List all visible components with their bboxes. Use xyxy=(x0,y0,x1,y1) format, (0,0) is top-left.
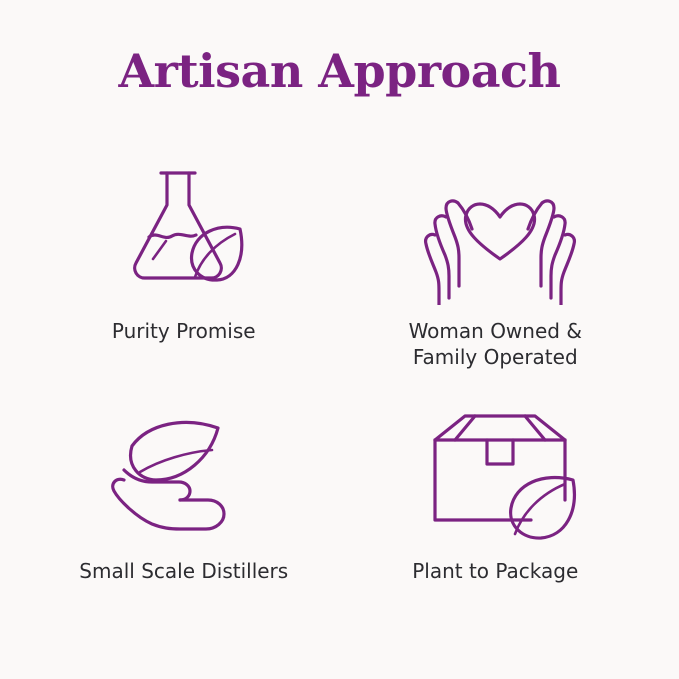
flask-leaf-icon xyxy=(109,150,259,310)
feature-item-small-scale-distillers: Small Scale Distillers xyxy=(28,400,340,650)
artisan-approach-panel: Artisan Approach Purity Pr xyxy=(0,0,679,679)
box-leaf-icon xyxy=(413,400,578,550)
hands-heart-icon xyxy=(408,150,583,310)
feature-label: Plant to Package xyxy=(412,558,578,584)
feature-label: Woman Owned & Family Operated xyxy=(409,318,582,371)
feature-label: Purity Promise xyxy=(112,318,256,344)
feature-item-woman-owned: Woman Owned & Family Operated xyxy=(340,150,652,400)
feature-label: Small Scale Distillers xyxy=(79,558,288,584)
feature-item-plant-to-package: Plant to Package xyxy=(340,400,652,650)
feature-grid: Purity Promise xyxy=(28,150,651,650)
feature-item-purity-promise: Purity Promise xyxy=(28,150,340,400)
hand-leaf-icon xyxy=(104,400,264,550)
page-title: Artisan Approach xyxy=(0,44,679,98)
